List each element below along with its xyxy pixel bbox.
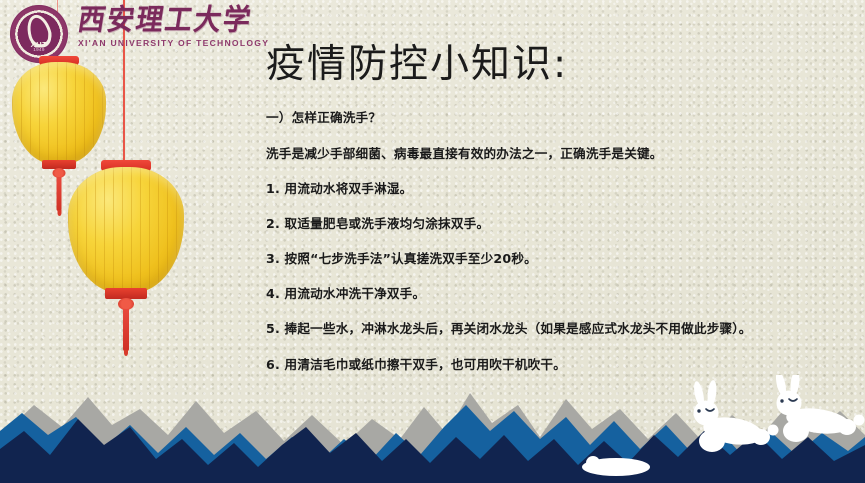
step-item-6: 6. 用清洁毛巾或纸巾擦干双手，也可用吹干机吹干。 [266, 355, 846, 374]
step-item-5: 5. 捧起一些水，冲淋水龙头后，再关闭水龙头（如果是感应式水龙头不用做此步骤）。 [266, 319, 796, 338]
section-question: 一）怎样正确洗手？ [266, 108, 846, 127]
section-lead: 洗手是减少手部细菌、病毒最直接有效的办法之一，正确洗手是关键。 [266, 144, 846, 163]
content-column: 疫情防控小知识: 一）怎样正确洗手？ 洗手是减少手部细菌、病毒最直接有效的办法之… [266, 40, 846, 390]
university-name-cn: 西安理工大学 [78, 8, 272, 38]
university-branding: XUT 1949 西安理工大学 XI'AN UNIVERSITY OF TECH… [6, 2, 268, 60]
scenery-svg [0, 375, 865, 483]
lantern-body [68, 167, 184, 293]
step-item-4: 4. 用流动水冲洗干净双手。 [266, 284, 846, 303]
rabbit-center [692, 380, 778, 452]
university-seal-icon: XUT 1949 [10, 5, 68, 63]
lantern-tassel [57, 177, 62, 211]
university-name-en: XI'AN UNIVERSITY OF TECHNOLOGY [78, 38, 278, 48]
lantern-body [12, 62, 106, 164]
lantern-lower [68, 160, 184, 312]
rabbit-right [774, 375, 865, 442]
step-item-1: 1. 用流动水将双手淋湿。 [266, 179, 846, 198]
seal-year: 1949 [10, 47, 68, 52]
step-item-3: 3. 按照“七步洗手法”认真搓洗双手至少20秒。 [266, 249, 846, 268]
page-title: 疫情防控小知识: [266, 40, 846, 90]
university-name-cn-text: 西安理工大学 [75, 5, 274, 37]
slide-canvas: XUT 1949 西安理工大学 XI'AN UNIVERSITY OF TECH… [0, 0, 865, 483]
bottom-scenery [0, 375, 865, 483]
lantern-tassel [123, 309, 129, 351]
step-item-2: 2. 取适量肥皂或洗手液均匀涂抹双手。 [266, 214, 846, 233]
